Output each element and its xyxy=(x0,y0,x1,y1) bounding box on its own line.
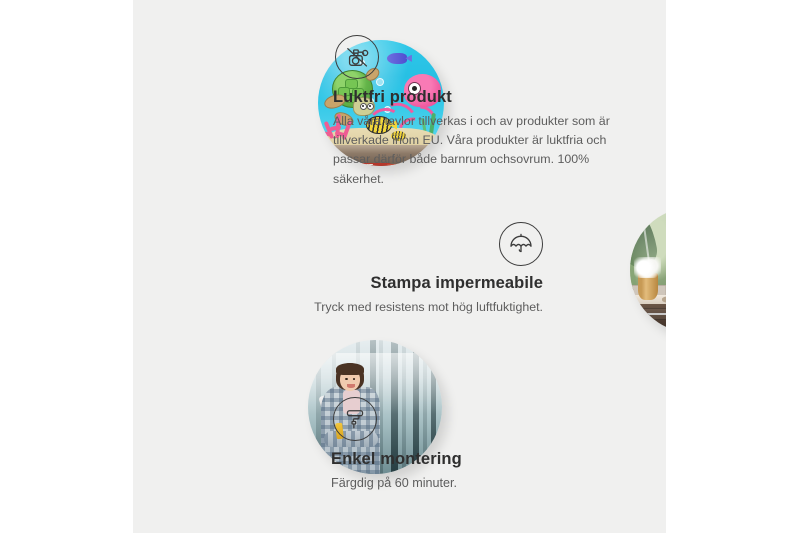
paint-roller-icon xyxy=(333,397,377,441)
feature-easy-mount-title: Enkel montering xyxy=(331,450,631,469)
feature-waterproof: Stampa impermeabile Tryck med resistens … xyxy=(213,222,543,317)
feature-odourless-icon-row xyxy=(333,35,633,79)
product-feature-panel: Luktfri produkt Alla våra tavlor tillver… xyxy=(133,0,666,533)
no-fragrance-icon xyxy=(335,35,379,79)
feature-odourless-title: Luktfri produkt xyxy=(333,88,633,107)
feature-waterproof-body: Tryck med resistens mot hög luftfuktighe… xyxy=(213,298,543,317)
feature-waterproof-icon-row xyxy=(213,222,543,266)
umbrella-icon xyxy=(499,222,543,266)
feature-easy-mount-body: Färgdig på 60 minuter. xyxy=(331,474,631,494)
feature-odourless-body: Alla våra tavlor tillverkas i och av pro… xyxy=(333,112,633,189)
feature-easy-mount-icon-row xyxy=(331,397,631,441)
screenshot-stage: Luktfri produkt Alla våra tavlor tillver… xyxy=(0,0,800,533)
feature-odourless: Luktfri produkt Alla våra tavlor tillver… xyxy=(333,35,633,189)
feature-waterproof-title: Stampa impermeabile xyxy=(213,274,543,293)
bathroom-leaf-wallpaper-photo xyxy=(630,207,666,333)
feature-easy-mount: Enkel montering Färgdig på 60 minuter. xyxy=(331,397,631,493)
